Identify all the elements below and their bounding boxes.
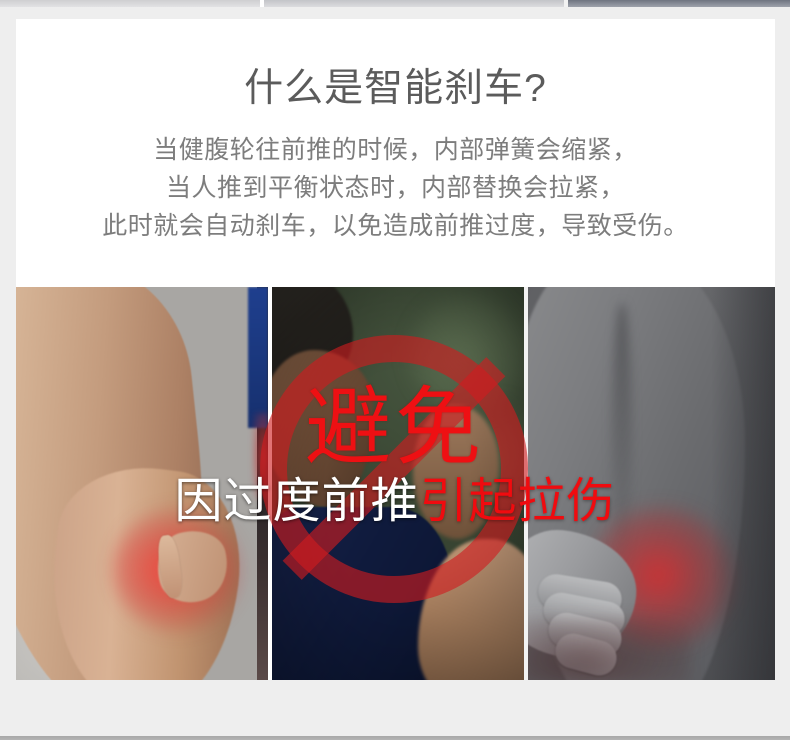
sliver-segment-right (568, 0, 790, 7)
overlay-subtitle: 因过度前推引起拉伤 (0, 478, 790, 526)
overlay-subtitle-red: 引起拉伤 (420, 475, 616, 528)
description-line-1: 当健腹轮往前推的时候，内部弹簧会缩紧， (16, 131, 775, 169)
sliver-segment-left (0, 0, 260, 7)
description-line-2: 当人推到平衡状态时，内部替换会拉紧， (16, 169, 775, 207)
sliver-segment-middle (264, 0, 564, 7)
page-title: 什么是智能刹车? (16, 19, 775, 112)
next-image-top-edge (0, 736, 790, 740)
overlay-headline: 避免 (0, 385, 790, 471)
overlay-subtitle-white: 因过度前推 (174, 475, 419, 528)
back-photo-lower-shadow (528, 617, 691, 680)
previous-image-bottom-edge (0, 0, 790, 7)
info-card: 什么是智能刹车? 当健腹轮往前推的时候，内部弹簧会缩紧， 当人推到平衡状态时，内… (16, 19, 775, 287)
description-line-3: 此时就会自动刹车，以免造成前推过度，导致受伤。 (16, 207, 775, 245)
description-block: 当健腹轮往前推的时候，内部弹簧会缩紧， 当人推到平衡状态时，内部替换会拉紧， 此… (16, 112, 775, 245)
